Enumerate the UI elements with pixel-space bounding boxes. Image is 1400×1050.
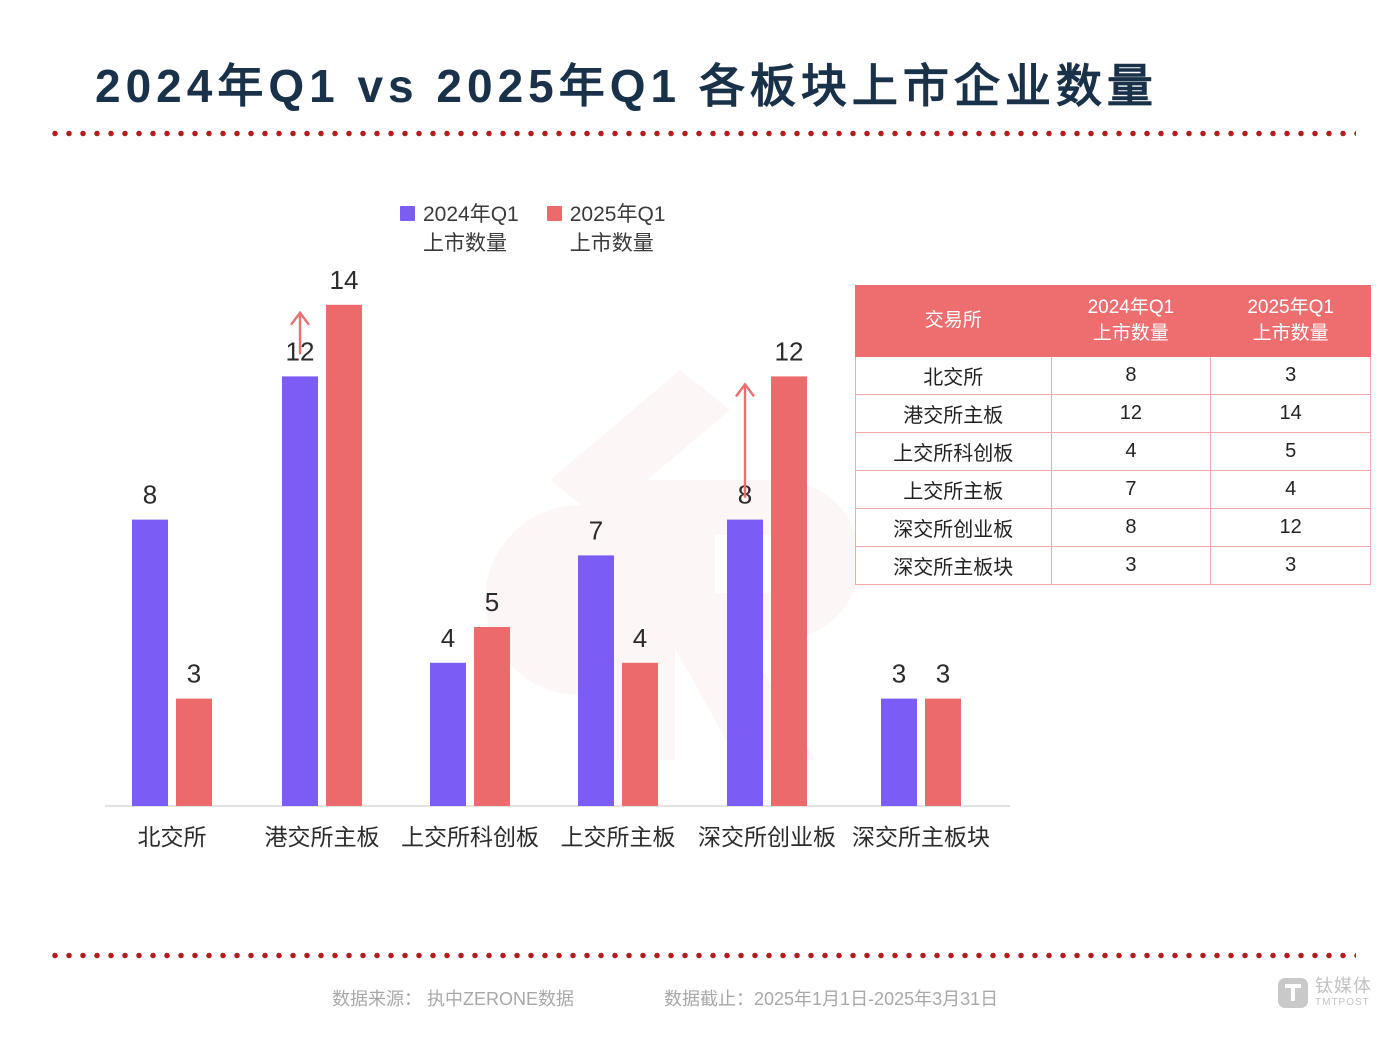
legend-swatch-2025 <box>547 206 562 221</box>
bar-value-label: 4 <box>441 623 455 653</box>
bar-2024Q1-上交所主板[interactable] <box>578 555 614 806</box>
legend-swatch-2024 <box>400 206 415 221</box>
bar-value-label: 3 <box>936 659 950 689</box>
table-header-2024-line1: 2024年Q1 <box>1088 297 1175 318</box>
table-cell-2025: 5 <box>1211 433 1371 471</box>
table-cell-2025: 3 <box>1211 547 1371 585</box>
table-cell-2025: 3 <box>1211 357 1371 395</box>
table-cell-exchange: 上交所主板 <box>856 471 1052 509</box>
category-label: 港交所主板 <box>265 824 380 850</box>
tmtpost-logo-icon <box>1278 978 1308 1008</box>
table-cell-2024: 8 <box>1051 509 1211 547</box>
category-labels-layer: 北交所港交所主板上交所科创板上交所主板深交所创业板深交所主板块 <box>138 824 991 850</box>
table-row: 北交所83 <box>856 357 1371 395</box>
tmtpost-logo: 钛媒体 TMTPOST <box>1278 977 1372 1008</box>
divider-top <box>48 130 1356 137</box>
tmtpost-logo-en: TMTPOST <box>1315 998 1372 1008</box>
footer-cutoff-text: 数据截止：2025年1月1日-2025年3月31日 <box>664 985 998 1011</box>
table-cell-exchange: 深交所主板块 <box>856 547 1052 585</box>
bar-value-label: 5 <box>485 587 499 617</box>
bar-2024Q1-港交所主板[interactable] <box>282 376 318 806</box>
table-cell-exchange: 深交所创业板 <box>856 509 1052 547</box>
table-body: 北交所83港交所主板1214上交所科创板45上交所主板74深交所创业板812深交… <box>856 357 1371 585</box>
table-cell-2025: 14 <box>1211 395 1371 433</box>
table-cell-exchange: 上交所科创板 <box>856 433 1052 471</box>
table-header-2025-line2: 上市数量 <box>1253 323 1329 344</box>
table-cell-2024: 7 <box>1051 471 1211 509</box>
bar-2025Q1-深交所主板块[interactable] <box>925 699 961 806</box>
legend-label-2024-line1: 2024年Q1 <box>423 203 519 226</box>
bar-value-label: 14 <box>330 265 359 295</box>
table-cell-2024: 12 <box>1051 395 1211 433</box>
table-cell-exchange: 港交所主板 <box>856 395 1052 433</box>
category-label: 上交所科创板 <box>401 824 539 850</box>
legend-item-2024[interactable]: 2024年Q1 上市数量 <box>400 200 519 258</box>
bar-2025Q1-港交所主板[interactable] <box>326 305 362 806</box>
table-header-exchange: 交易所 <box>856 286 1052 357</box>
table-cell-2024: 4 <box>1051 433 1211 471</box>
tmtpost-logo-cn: 钛媒体 <box>1315 977 1372 995</box>
bar-value-label: 3 <box>892 659 906 689</box>
bar-value-label: 8 <box>143 480 157 510</box>
page-title: 2024年Q1 vs 2025年Q1 各板块上市企业数量 <box>95 50 1158 116</box>
legend-label-2025-line1: 2025年Q1 <box>570 203 666 226</box>
table-cell-exchange: 北交所 <box>856 357 1052 395</box>
bar-2024Q1-上交所科创板[interactable] <box>430 663 466 806</box>
bar-value-label: 12 <box>775 336 804 366</box>
bars-layer <box>132 305 961 806</box>
bar-2024Q1-北交所[interactable] <box>132 520 168 806</box>
tmtpost-logo-text: 钛媒体 TMTPOST <box>1315 977 1372 1008</box>
category-label: 上交所主板 <box>561 824 676 850</box>
bar-2024Q1-深交所主板块[interactable] <box>881 699 917 806</box>
table-cell-2025: 4 <box>1211 471 1371 509</box>
chart-legend: 2024年Q1 上市数量 2025年Q1 上市数量 <box>400 200 665 258</box>
table-header-exchange-line1: 交易所 <box>925 310 982 331</box>
table-row: 深交所创业板812 <box>856 509 1371 547</box>
legend-label-2024-line2: 上市数量 <box>423 229 519 258</box>
bar-value-label: 4 <box>633 623 647 653</box>
legend-label-2025-line2: 上市数量 <box>570 229 666 258</box>
bar-value-label: 3 <box>187 659 201 689</box>
legend-label-2025: 2025年Q1 上市数量 <box>570 200 666 258</box>
table-cell-2024: 8 <box>1051 357 1211 395</box>
table-row: 上交所科创板45 <box>856 433 1371 471</box>
legend-item-2025[interactable]: 2025年Q1 上市数量 <box>547 200 666 258</box>
table-header-2024: 2024年Q1 上市数量 <box>1051 286 1211 357</box>
table-cell-2025: 12 <box>1211 509 1371 547</box>
table-header-row: 交易所 2024年Q1 上市数量 2025年Q1 上市数量 <box>856 286 1371 357</box>
exchange-listing-table: 交易所 2024年Q1 上市数量 2025年Q1 上市数量 北交所83港交所主板… <box>855 285 1371 585</box>
bar-2025Q1-深交所创业板[interactable] <box>771 376 807 806</box>
footer-source-text: 数据来源： 执中ZERONE数据 <box>332 985 574 1011</box>
table-row: 港交所主板1214 <box>856 395 1371 433</box>
footer: 数据来源： 执中ZERONE数据 数据截止：2025年1月1日-2025年3月3… <box>0 985 1400 1031</box>
bar-value-label: 7 <box>589 515 603 545</box>
table-header-2025: 2025年Q1 上市数量 <box>1211 286 1371 357</box>
bar-2024Q1-深交所创业板[interactable] <box>727 520 763 806</box>
table-row: 深交所主板块33 <box>856 547 1371 585</box>
bar-2025Q1-上交所科创板[interactable] <box>474 627 510 806</box>
category-label: 深交所创业板 <box>698 824 836 850</box>
bar-2025Q1-北交所[interactable] <box>176 699 212 806</box>
divider-bottom <box>48 952 1356 959</box>
category-label: 深交所主板块 <box>852 824 990 850</box>
table-cell-2024: 3 <box>1051 547 1211 585</box>
legend-label-2024: 2024年Q1 上市数量 <box>423 200 519 258</box>
table-header-2025-line1: 2025年Q1 <box>1247 297 1334 318</box>
bar-value-labels-layer: 831214457481233 <box>143 265 950 689</box>
table-header-2024-line2: 上市数量 <box>1093 323 1169 344</box>
bar-2025Q1-上交所主板[interactable] <box>622 663 658 806</box>
table-row: 上交所主板74 <box>856 471 1371 509</box>
category-label: 北交所 <box>138 824 207 850</box>
